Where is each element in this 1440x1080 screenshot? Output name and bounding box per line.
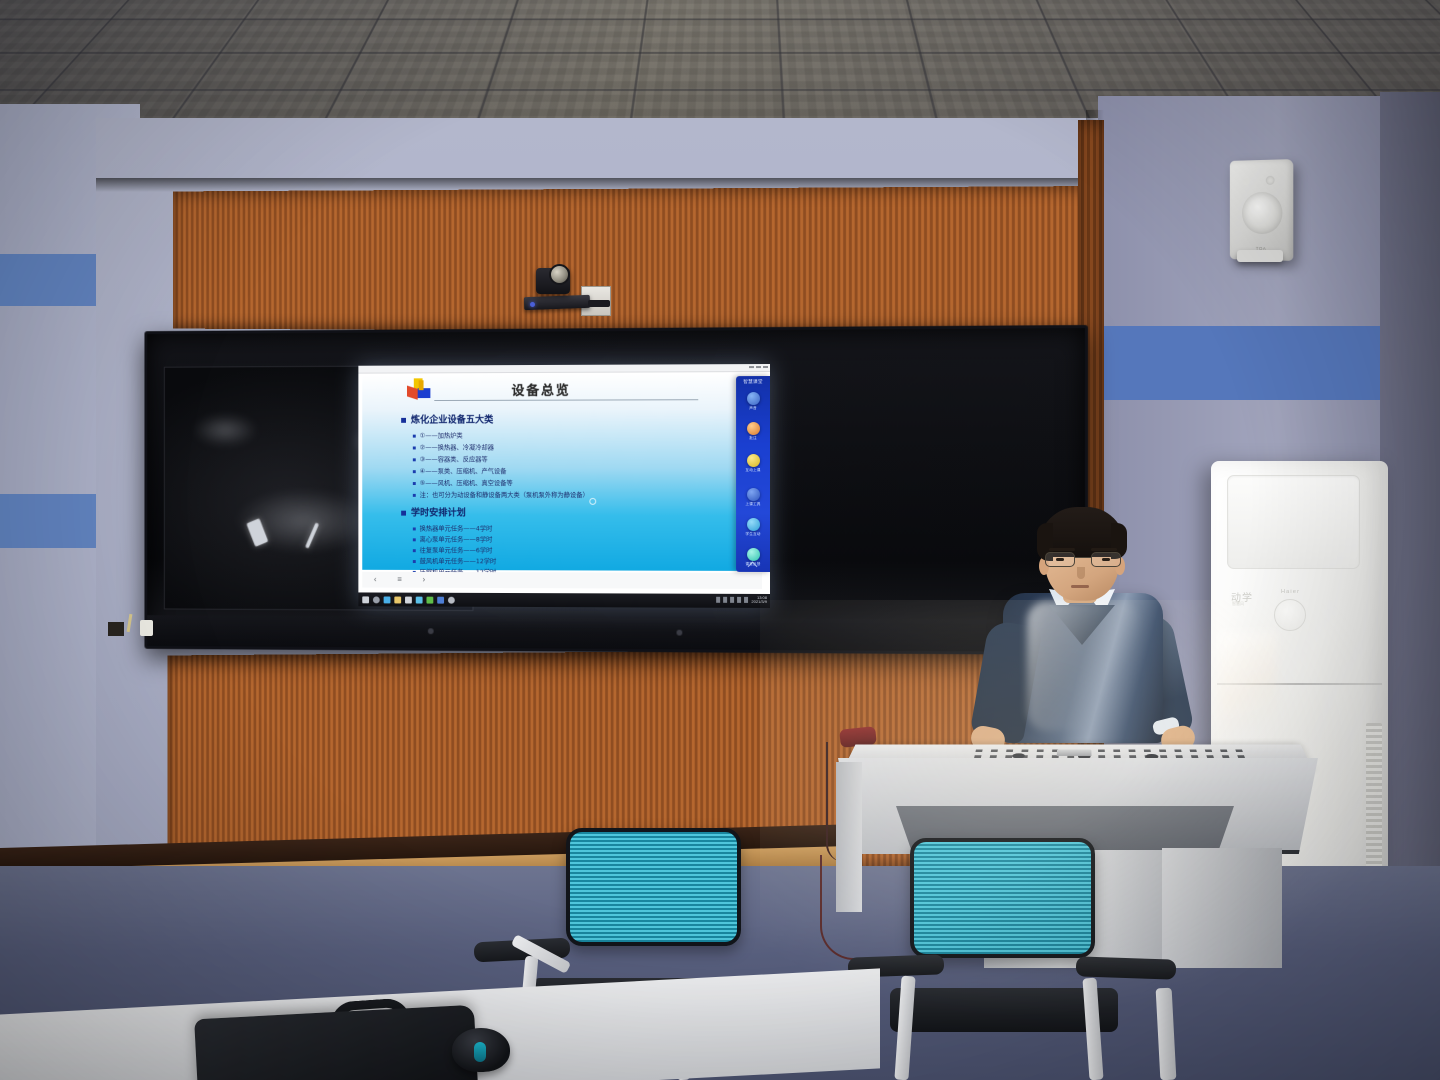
wall-far-right [1380,92,1440,912]
slide-title-rule [434,399,698,401]
slide-heading-2: 学时安排计划 [401,509,466,518]
mouse-led-icon [474,1042,486,1062]
sidebar-label: 批注 [736,436,770,441]
slide-item: ⑤——风机、压缩机、真空设备等 [413,480,513,486]
camera-lens-icon [549,264,570,285]
mouse-cursor-icon [589,498,596,505]
ac-control-dial[interactable] [1274,599,1306,631]
slide-item: 注：也可分为动设备和静设备两大类（泵机泵外称为静设备） [413,492,589,498]
slide-menu-icon[interactable]: ≡ [397,575,402,584]
next-slide-icon[interactable]: › [423,575,426,584]
slide-item: ①——加热炉类 [413,433,463,439]
sunlight-highlight [1027,601,1139,731]
chair-back-mesh [566,828,741,946]
app-icon[interactable] [426,596,433,603]
sidebar-item-annotate[interactable]: 批注 [736,422,770,441]
sidebar-item-class-tools[interactable]: 上课工具 [736,488,770,507]
eyebrow-right [1091,548,1117,551]
sidebar-item-sound[interactable]: 声音 [736,392,770,411]
wall-right-stripe [1098,326,1398,400]
windows-taskbar[interactable]: 13:08 2021/3/9 [358,592,770,608]
pen-tray-icon[interactable] [717,597,721,603]
battery-icon[interactable] [744,597,748,603]
settings-icon[interactable] [437,596,444,603]
camera-cable-box [588,300,610,307]
podium-side-left [836,762,862,912]
chair-back-mesh [910,838,1095,958]
folder-icon[interactable] [394,596,401,603]
eye-left [1056,558,1064,561]
prev-slide-icon[interactable]: ‹ [374,575,377,584]
slide-item: 鼓风机单元任务——12学时 [413,558,496,565]
speaker-woofer [1242,192,1282,235]
browser-icon[interactable] [405,596,412,603]
slide-item: 离心泵单元任务——8学时 [413,536,493,542]
ac-air-outlet [1227,475,1360,569]
people-icon [747,518,760,531]
slide-item: ③——容器类、反应器等 [413,456,488,462]
toolbox-icon [747,488,760,501]
slide-heading-1: 炼化企业设备五大类 [401,416,493,426]
slide-item: ②——换热器、冷凝冷却器 [413,444,494,450]
speaker-tweeter [1266,176,1275,185]
wood-slat-panel-upper [173,186,1096,334]
taskbar-clock[interactable]: 13:08 2021/3/9 [751,596,767,605]
mail-icon[interactable] [416,596,423,603]
pen-icon [747,422,760,435]
slide-navigation-bar[interactable]: ‹ ≡ › [362,572,762,589]
computer-mouse[interactable] [452,1028,510,1072]
sidebar-brand: 智慧课堂 [736,379,770,385]
ac-brand-name: Haier [1281,589,1300,595]
sidebar-label: 上课工具 [736,502,770,507]
classroom-photo: 设备总览 炼化企业设备五大类 ①——加热炉类 ②——换热器、冷凝冷却器 ③——容… [0,0,1440,1080]
sidebar-item-interactive-class[interactable]: 互动上课 [736,454,770,473]
blackboard-bottom-bezel [147,615,1085,652]
glasses-bridge [1075,557,1091,558]
system-tray[interactable]: 13:08 2021/3/9 [717,596,767,605]
ac-side-grille [1366,723,1382,873]
smart-classroom-sidebar[interactable]: 智慧课堂 声音 批注 互动上课 上课工具 学生互动 [736,376,770,572]
network-icon[interactable] [731,597,735,603]
start-icon[interactable] [362,596,369,603]
chalk-box [108,622,124,636]
sidebar-item-student-interaction[interactable]: 学生互动 [736,518,770,537]
chalk-holder [140,620,153,636]
speaker-port [1243,178,1250,185]
mouth [1071,585,1089,588]
volume-icon[interactable] [737,597,741,603]
eyebrow-left [1049,548,1075,551]
user-icon[interactable] [448,596,455,603]
speaker-bracket [1237,250,1283,262]
eye-right [1102,558,1110,561]
slide-item: 换热器单元任务——4学时 [413,526,493,532]
camera-led-indicator [530,302,535,307]
feedback-icon [747,548,760,561]
sidebar-label: 学生互动 [736,532,770,537]
sidebar-label: 互动上课 [736,468,770,473]
wall-mounted-speaker: TOA [1230,159,1293,261]
podium-column-right [1162,848,1282,968]
window-titlebar [358,364,770,374]
microphone-icon [747,392,760,405]
chair-leg [1156,988,1177,1080]
taskview-icon[interactable] [384,596,391,603]
student-chair-right[interactable] [880,838,1180,1080]
search-icon[interactable] [373,596,380,603]
chair-armrest [1076,956,1177,979]
podium-handle[interactable] [1057,749,1092,755]
ac-brand-sublabel: 智慧风 [1232,601,1244,607]
slide-title: 设备总览 [362,379,722,399]
slide-item: ④——泵类、压缩机、产气设备 [413,468,507,474]
chevron-up-icon[interactable] [724,597,728,603]
slide-canvas: 设备总览 炼化企业设备五大类 ①——加热炉类 ②——换热器、冷凝冷却器 ③——容… [362,373,762,571]
clock-date: 2021/3/9 [751,600,767,604]
sidebar-label: 声音 [736,406,770,411]
nose [1077,567,1085,579]
chat-icon [747,454,760,467]
presentation-screen[interactable]: 设备总览 炼化企业设备五大类 ①——加热炉类 ②——换热器、冷凝冷却器 ③——容… [358,364,770,608]
slide-item: 往复泵单元任务——6学时 [413,547,493,554]
